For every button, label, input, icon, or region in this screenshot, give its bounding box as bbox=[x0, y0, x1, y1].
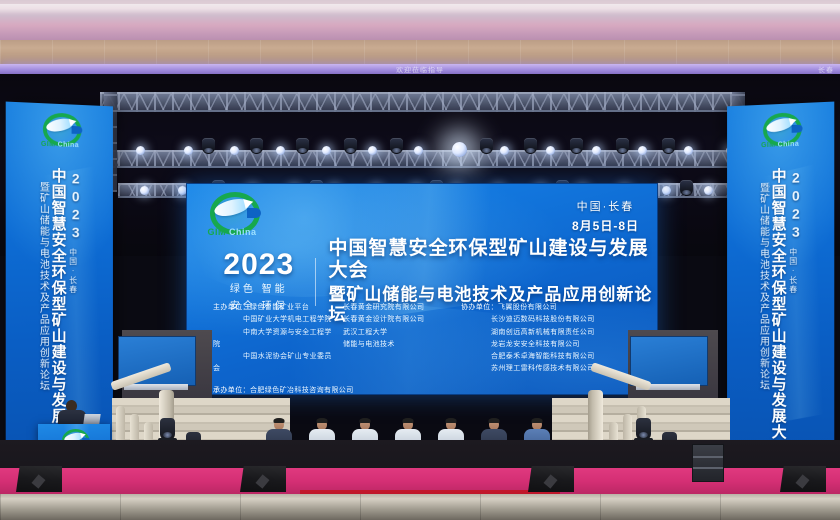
moving-head-fixture bbox=[202, 138, 215, 154]
moving-head-fixture bbox=[680, 180, 693, 196]
logo-word-china: China bbox=[229, 227, 257, 237]
banner-left-subtitle: 暨矿山储能与电池技术及产品应用创新论坛 bbox=[37, 181, 47, 391]
moving-head-fixture bbox=[570, 138, 583, 154]
screen-year-sub-1: 绿色 智能 bbox=[215, 283, 303, 297]
banner-left-year: 2023 bbox=[69, 170, 83, 242]
stage-lamp bbox=[500, 146, 509, 155]
banner-right-year: 2023 bbox=[789, 169, 803, 242]
banner-left-city: 中国·长春 bbox=[69, 248, 77, 294]
co-host-org-1: 飞翼股份有限公司 bbox=[498, 304, 557, 311]
co-host-org-4: 龙岩龙安安全科技有限公司 bbox=[461, 339, 611, 351]
stage-lamp bbox=[546, 146, 555, 155]
stage-monitor-speaker bbox=[16, 466, 62, 492]
stage-lamp bbox=[140, 186, 149, 195]
stage-monitor-speaker bbox=[528, 466, 574, 492]
moving-head-light-floor bbox=[160, 418, 175, 440]
organizer-column-1: 主办单位：绿色智能矿业平台 中国矿业大学机电工程学院 中南大学资源与安全工程学院… bbox=[213, 302, 333, 376]
main-led-screen: GIM China 中国·长春 8月5日-8日 2023 绿色 智能 安全 环保… bbox=[186, 183, 658, 395]
stage-lamp bbox=[368, 146, 377, 155]
stage-lamp bbox=[592, 146, 601, 155]
screen-title-line-1: 中国智慧安全环保型矿山建设与发展大会 bbox=[328, 238, 657, 282]
stage-lamp-bright bbox=[452, 142, 467, 157]
stage-lamp bbox=[230, 146, 239, 155]
host-org-3: 中南大学资源与安全工程学院 bbox=[213, 327, 333, 352]
logo-word-china: China bbox=[778, 140, 799, 149]
screen-year: 2023 bbox=[215, 250, 303, 280]
gim-china-logo-icon: GIM China bbox=[758, 112, 803, 150]
screen-date: 8月5日-8日 bbox=[572, 217, 639, 234]
moving-head-fixture bbox=[524, 138, 537, 154]
flight-case bbox=[692, 444, 724, 482]
organizer-column-3: 协办单位：飞翼股份有限公司 长沙迪迈数码科技股份有限公司 湖南创远高新机械有限责… bbox=[461, 302, 611, 376]
co-host-org-3: 湖南创远高新机械有限责任公司 bbox=[461, 327, 611, 339]
banner-left-logo: GIM China bbox=[31, 112, 89, 160]
banner-right-city: 中国·长春 bbox=[789, 248, 797, 294]
stage-lamp bbox=[414, 146, 423, 155]
undertaker-org: 合肥绿色矿冶科技咨询有限公司 bbox=[250, 387, 354, 394]
stage-lamp bbox=[704, 186, 713, 195]
host-org-1: 绿色智能矿业平台 bbox=[250, 304, 309, 311]
stage-lamp bbox=[684, 146, 693, 155]
stage-lamp bbox=[322, 146, 331, 155]
logo-word-gim: GIM bbox=[207, 227, 226, 237]
moving-head-fixture bbox=[480, 138, 493, 154]
moving-head-light-floor bbox=[636, 418, 651, 440]
podium-laptop bbox=[83, 414, 100, 424]
host-org-5: 长春黄金研究院有限公司 bbox=[343, 302, 451, 314]
organizer-column-2: 长春黄金研究院有限公司 长春黄金设计院有限公司 武汉工程大学 储能与电池技术 bbox=[343, 302, 451, 376]
ceiling-cornice-band bbox=[0, 40, 840, 66]
stage-front-edge bbox=[0, 494, 840, 520]
title-divider bbox=[315, 258, 317, 306]
truss-row-middle bbox=[100, 150, 745, 168]
banner-right: GIM China 2023 中国·长春 中国智慧安全环保型矿山建设与发展大会 … bbox=[727, 102, 834, 489]
moving-head-fixture bbox=[616, 138, 629, 154]
co-host-org-5: 合肥泰禾卓海智能科技有限公司 bbox=[461, 351, 611, 363]
moving-head-fixture bbox=[296, 138, 309, 154]
moving-head-fixture bbox=[344, 138, 357, 154]
host-org-6: 长春黄金设计院有限公司 bbox=[343, 314, 451, 326]
undertaker-label: 承办单位： bbox=[213, 387, 250, 394]
logo-word-gim: GIM bbox=[41, 140, 55, 148]
co-host-label: 协办单位： bbox=[461, 304, 498, 311]
stage-lamp bbox=[184, 146, 193, 155]
stage-lamp bbox=[662, 186, 671, 195]
host-label: 主办单位： bbox=[213, 304, 250, 311]
stage-lamp bbox=[136, 146, 145, 155]
gim-china-logo-icon: GIM China bbox=[37, 112, 82, 150]
banner-right-title: 中国智慧安全环保型矿山建设与发展大会 bbox=[770, 168, 785, 456]
moving-head-fixture bbox=[662, 138, 675, 154]
stage-monitor-speaker bbox=[780, 466, 826, 492]
logo-word-gim: GIM bbox=[761, 140, 775, 148]
host-org-4: 中国水泥协会矿山专业委员会 bbox=[213, 351, 333, 376]
co-host-org-6: 苏州理工雷科传感技术有限公司 bbox=[461, 363, 611, 375]
stage-monitor-speaker bbox=[240, 466, 286, 492]
undertaker-row: 承办单位：合肥绿色矿冶科技咨询有限公司 bbox=[213, 385, 633, 396]
stage-lamp bbox=[276, 146, 285, 155]
moving-head-fixture bbox=[250, 138, 263, 154]
banner-right-logo: GIM China bbox=[751, 112, 809, 160]
host-org-2: 中国矿业大学机电工程学院 bbox=[213, 314, 333, 326]
screen-city: 中国·长春 bbox=[572, 198, 639, 214]
screen-organizers: 主办单位：绿色智能矿业平台 中国矿业大学机电工程学院 中南大学资源与安全工程学院… bbox=[213, 302, 633, 395]
screen-date-block: 中国·长春 8月5日-8日 bbox=[572, 198, 639, 234]
banner-right-subtitle: 暨矿山储能与电池技术及产品应用创新论坛 bbox=[757, 182, 767, 390]
moving-head-fixture bbox=[390, 138, 403, 154]
truss-row-upper bbox=[100, 92, 745, 112]
logo-word-china: China bbox=[58, 140, 79, 149]
host-org-8: 储能与电池技术 bbox=[343, 339, 451, 351]
screen-logo: GIM China bbox=[203, 192, 261, 238]
conference-stage-photo: 欢迎莅临指导 长春 bbox=[0, 0, 840, 520]
host-org-7: 武汉工程大学 bbox=[343, 327, 451, 339]
gim-china-logo-icon: GIM China bbox=[203, 192, 261, 238]
ceiling-sheen bbox=[0, 4, 840, 14]
co-host-org-2: 长沙迪迈数码科技股份有限公司 bbox=[461, 314, 611, 326]
stage-lamp bbox=[638, 146, 647, 155]
